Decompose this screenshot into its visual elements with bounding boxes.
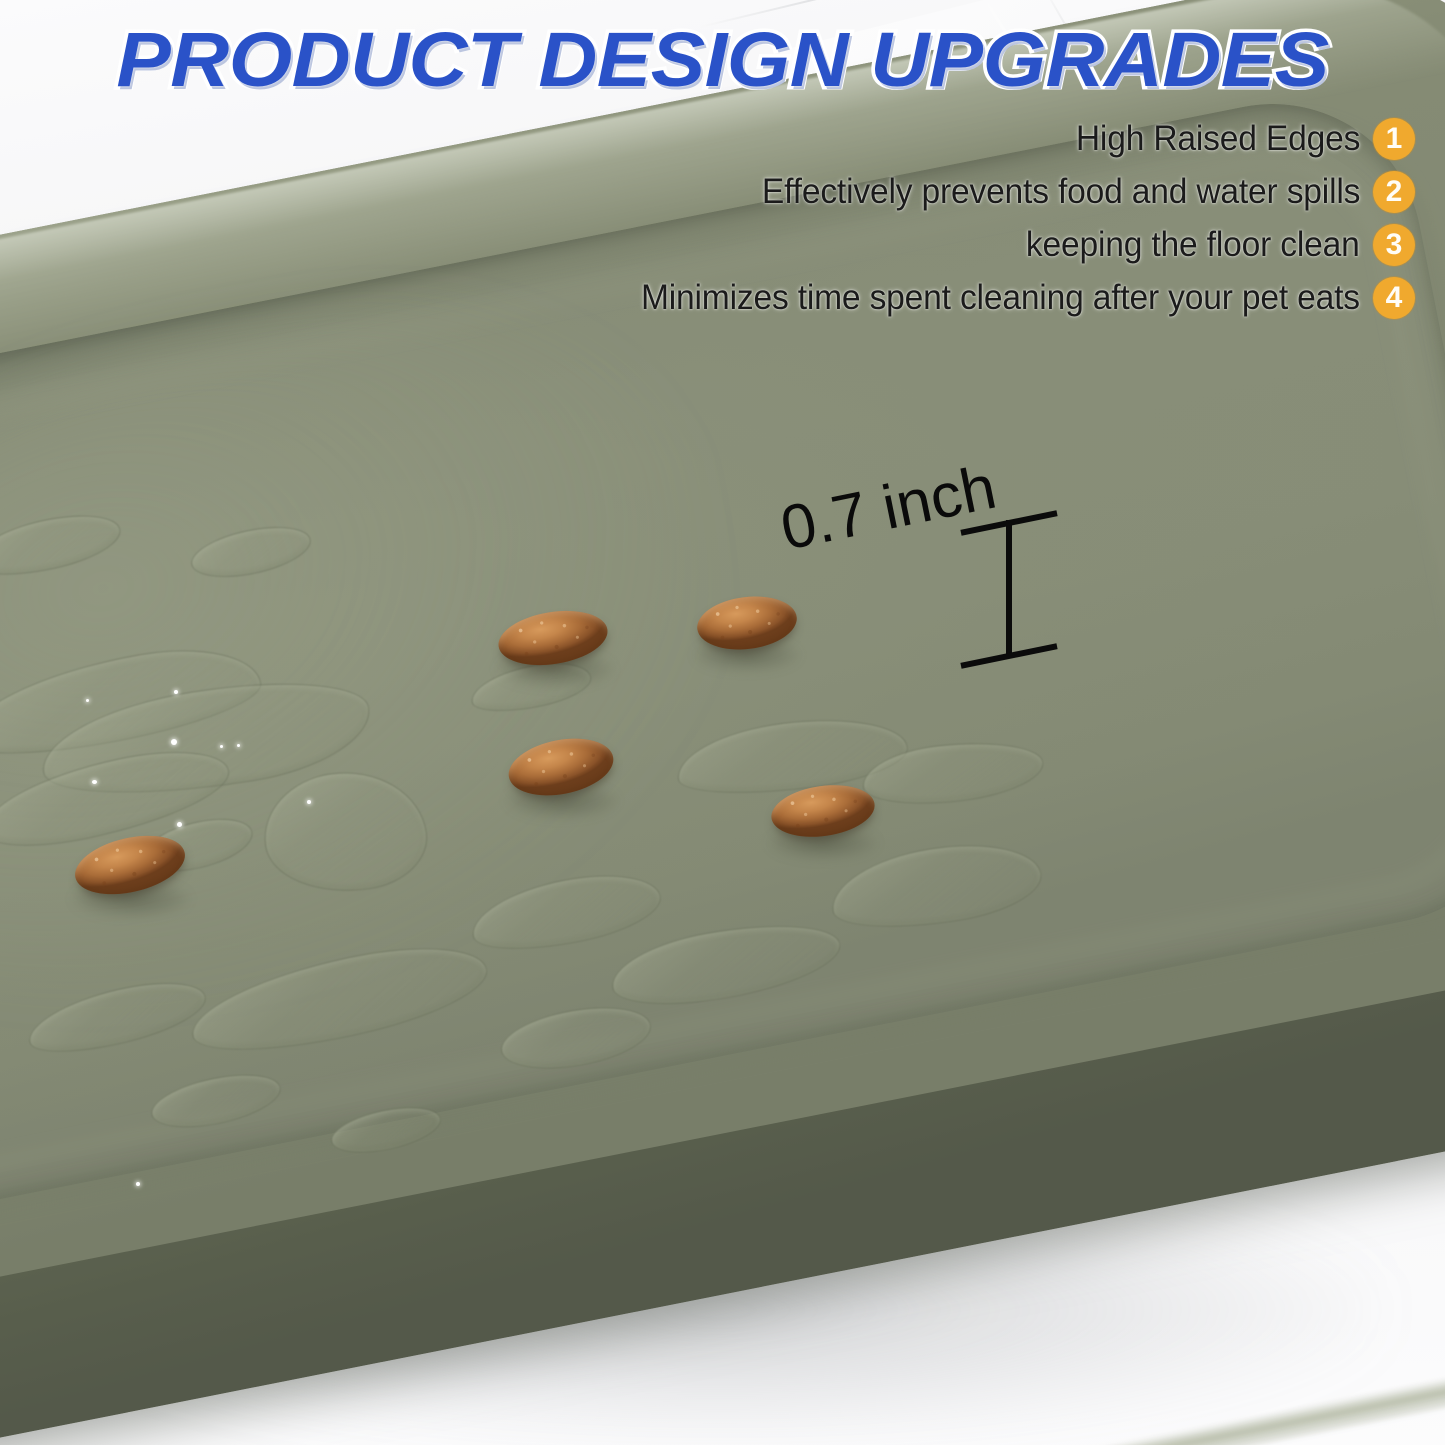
- water-highlight-speck: [171, 739, 177, 745]
- dimension-vertical-line: [1006, 520, 1012, 657]
- feature-number-badge: 2: [1373, 171, 1415, 213]
- feature-number-badge: 4: [1373, 277, 1415, 319]
- feature-item: Minimizes time spent cleaning after your…: [611, 277, 1415, 319]
- water-highlight-speck: [92, 780, 97, 784]
- feature-list: High Raised Edges 1 Effectively prevents…: [515, 118, 1415, 319]
- water-highlight-speck: [174, 690, 178, 694]
- dimension-line-group: [960, 498, 1070, 678]
- water-highlight-speck: [237, 744, 240, 747]
- water-highlight-speck: [220, 745, 223, 748]
- page-title: PRODUCT DESIGN UPGRADES: [0, 16, 1445, 105]
- water-highlight-speck: [177, 822, 182, 827]
- water-highlight-speck: [86, 699, 89, 702]
- product-marketing-image: 0.7 inch PRODUCT DESIGN UPGRADES PRODUCT…: [0, 0, 1445, 1445]
- feature-text: High Raised Edges: [1076, 119, 1360, 159]
- feature-item: keeping the floor clean 3: [1012, 224, 1415, 266]
- feature-number-badge: 3: [1373, 224, 1415, 266]
- feature-text: keeping the floor clean: [1026, 225, 1360, 265]
- feature-text: Effectively prevents food and water spil…: [762, 172, 1360, 212]
- feature-text: Minimizes time spent cleaning after your…: [641, 278, 1360, 318]
- feature-item: High Raised Edges 1: [1064, 118, 1415, 160]
- water-highlight-speck: [136, 1182, 140, 1186]
- water-highlight-speck: [307, 800, 311, 804]
- feature-item: Effectively prevents food and water spil…: [737, 171, 1415, 213]
- feature-number-badge: 1: [1373, 118, 1415, 160]
